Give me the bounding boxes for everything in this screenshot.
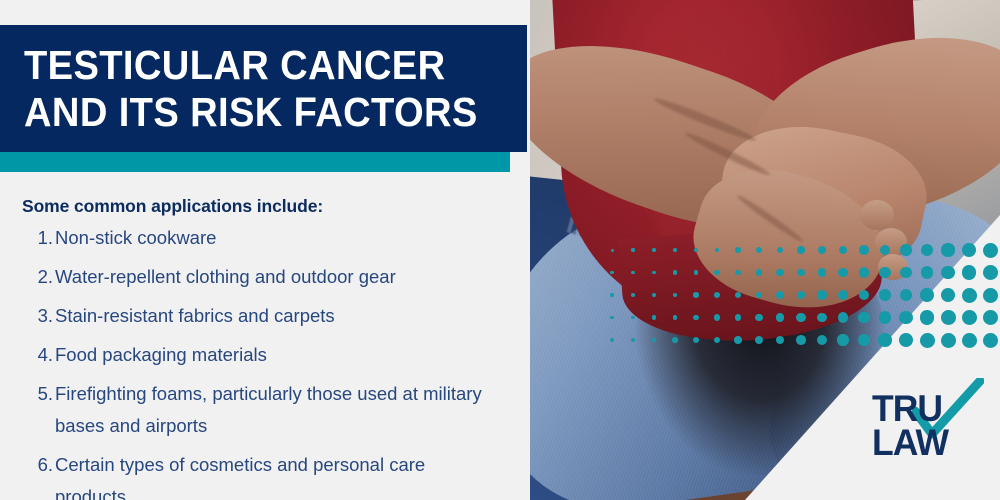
- page-title-line-1: TESTICULAR CANCER: [24, 42, 492, 89]
- list-item: 4.Food packaging materials: [0, 339, 510, 371]
- trulaw-logo[interactable]: TRU LAW: [872, 390, 982, 480]
- list-item-number: 5.: [0, 378, 55, 410]
- infographic-canvas: TESTICULAR CANCER AND ITS RISK FACTORS S…: [0, 0, 1000, 500]
- list-item-number: 4.: [0, 339, 55, 371]
- applications-list: 1.Non-stick cookware2.Water-repellent cl…: [0, 222, 510, 500]
- photo-knuckle: [860, 200, 894, 230]
- list-item-text: Food packaging materials: [55, 339, 510, 371]
- page-title-line-2: AND ITS RISK FACTORS: [24, 89, 492, 136]
- list-item: 2.Water-repellent clothing and outdoor g…: [0, 261, 510, 293]
- list-item-number: 6.: [0, 449, 55, 481]
- list-item-number: 2.: [0, 261, 55, 293]
- list-item-text: Non-stick cookware: [55, 222, 510, 254]
- photo-knuckle: [878, 254, 908, 280]
- title-banner: TESTICULAR CANCER AND ITS RISK FACTORS: [0, 25, 527, 152]
- list-heading: Some common applications include:: [22, 196, 323, 217]
- list-item-number: 3.: [0, 300, 55, 332]
- list-item-number: 1.: [0, 222, 55, 254]
- list-item-text: Certain types of cosmetics and personal …: [55, 449, 510, 500]
- list-item-text: Stain-resistant fabrics and carpets: [55, 300, 510, 332]
- list-item: 6.Certain types of cosmetics and persona…: [0, 449, 510, 500]
- photo-knuckle: [875, 228, 907, 256]
- list-item-text: Water-repellent clothing and outdoor gea…: [55, 261, 510, 293]
- list-item: 5.Firefighting foams, particularly those…: [0, 378, 510, 442]
- list-item: 3.Stain-resistant fabrics and carpets: [0, 300, 510, 332]
- logo-text-law: LAW: [872, 424, 948, 461]
- list-item-text: Firefighting foams, particularly those u…: [55, 378, 510, 442]
- list-item: 1.Non-stick cookware: [0, 222, 510, 254]
- teal-accent-bar: [0, 152, 510, 172]
